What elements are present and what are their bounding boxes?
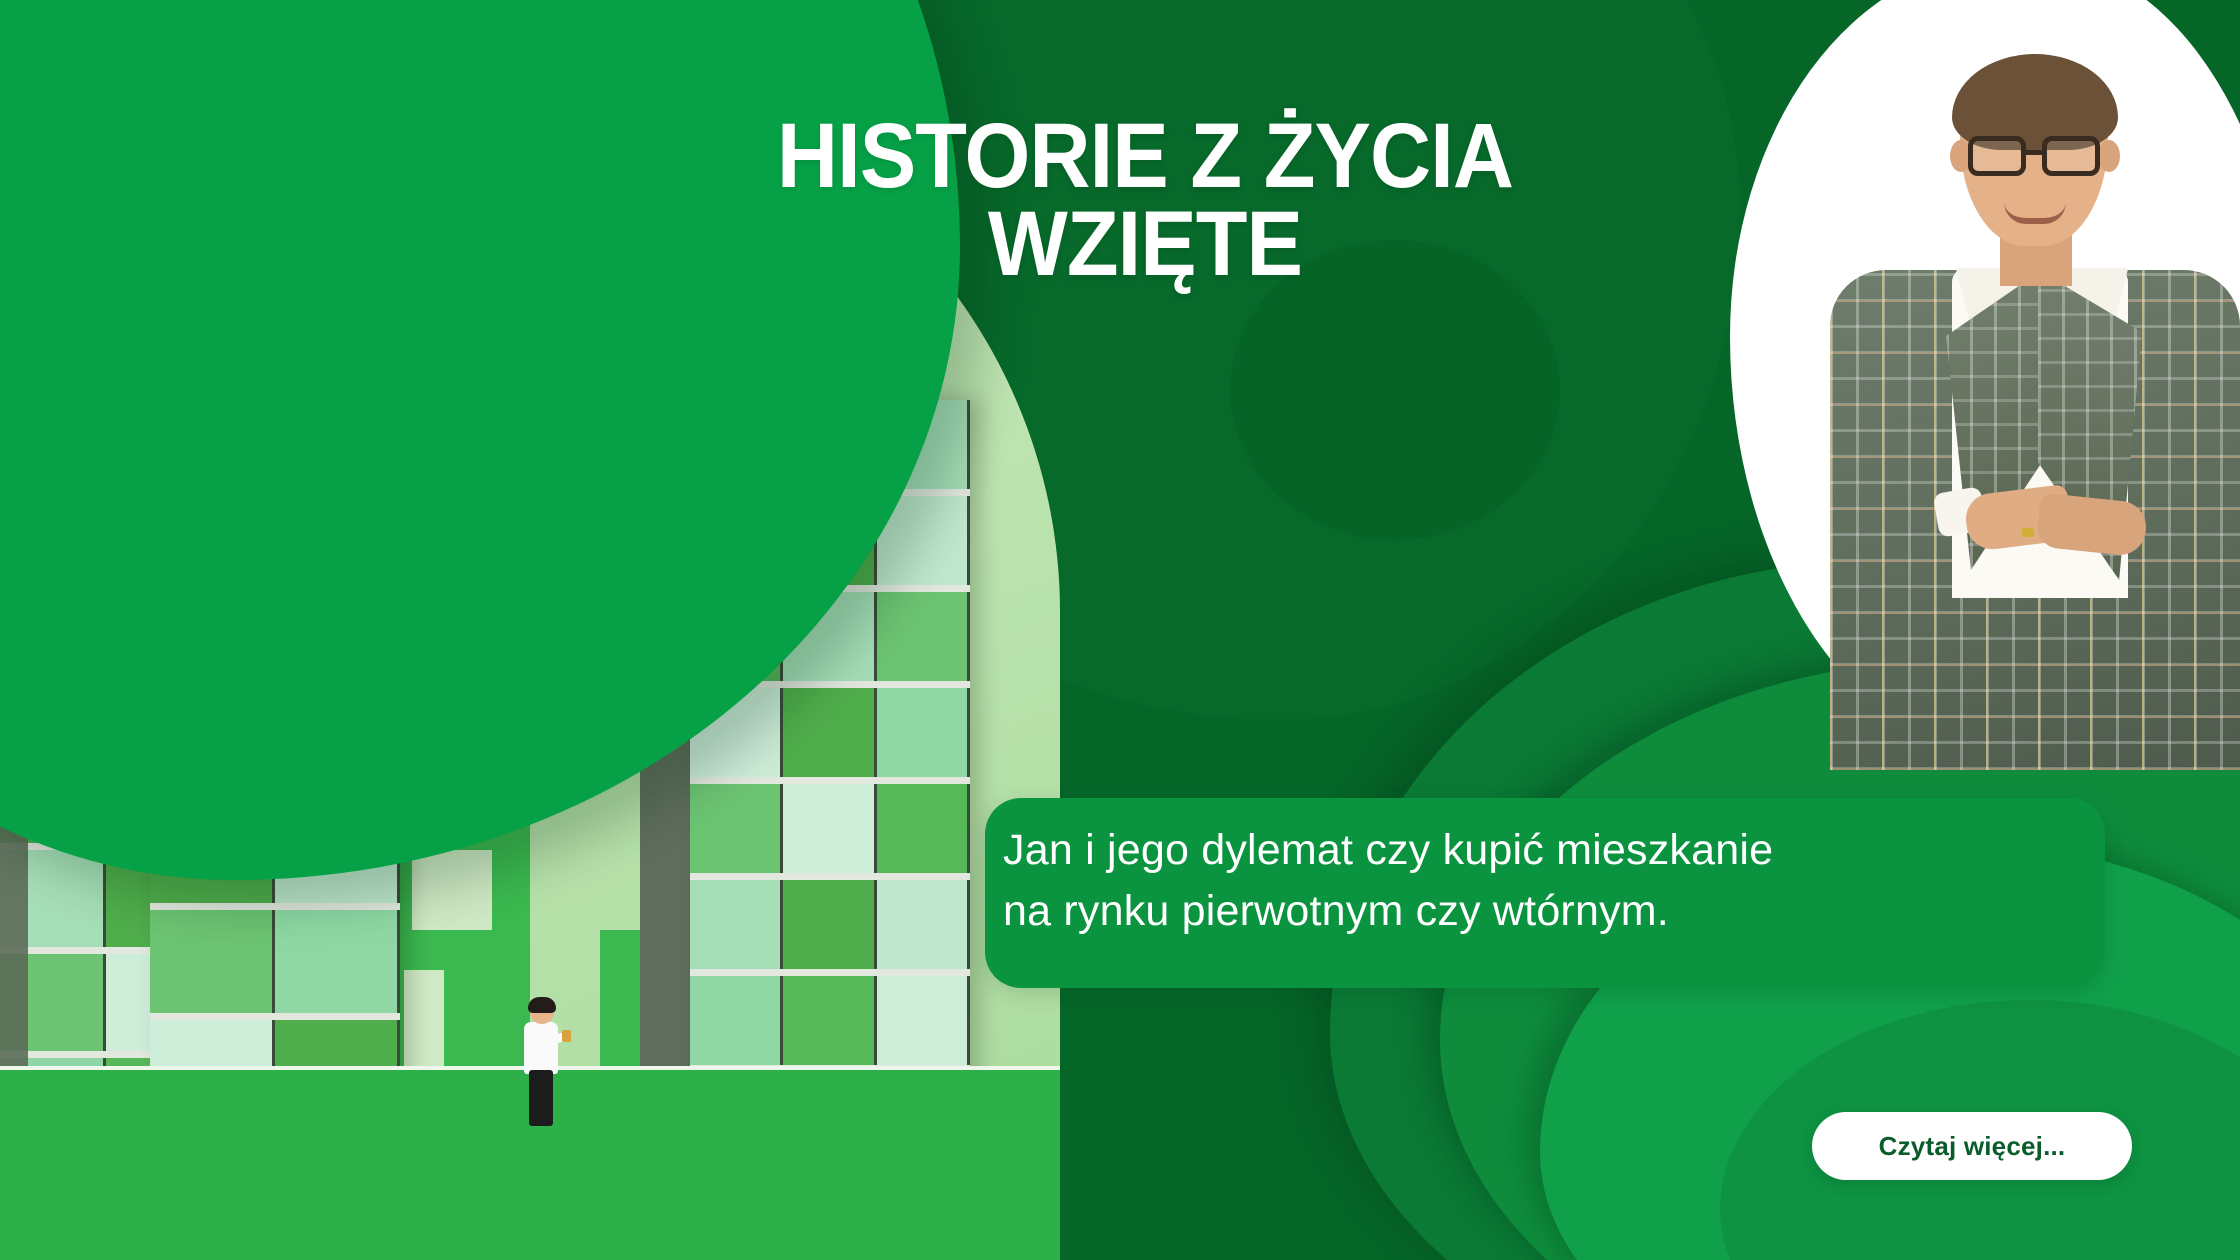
page-title: HISTORIE Z ŻYCIA WZIĘTE xyxy=(662,112,1628,289)
glasses-icon xyxy=(1968,136,2026,176)
wedding-ring-icon xyxy=(2022,528,2034,537)
person-phone-icon xyxy=(562,1030,571,1042)
subtitle-text: Jan i jego dylemat czy kupić mieszkanie … xyxy=(1003,820,2093,942)
block-window xyxy=(404,970,444,1066)
promo-banner: HISTORIE Z ŻYCIA WZIĘTE Jan i jego dylem… xyxy=(0,0,2240,1260)
read-more-button[interactable]: Czytaj więcej... xyxy=(1812,1112,2132,1180)
glasses-bridge xyxy=(2025,150,2044,155)
person-hair xyxy=(528,997,556,1013)
small-person-figure xyxy=(520,1000,564,1130)
person-legs xyxy=(529,1070,553,1126)
person-torso xyxy=(524,1022,558,1074)
portrait-ear-right xyxy=(2098,140,2120,172)
block-window xyxy=(412,850,492,930)
presenter-portrait xyxy=(1770,20,2240,760)
glasses-icon xyxy=(2042,136,2100,176)
